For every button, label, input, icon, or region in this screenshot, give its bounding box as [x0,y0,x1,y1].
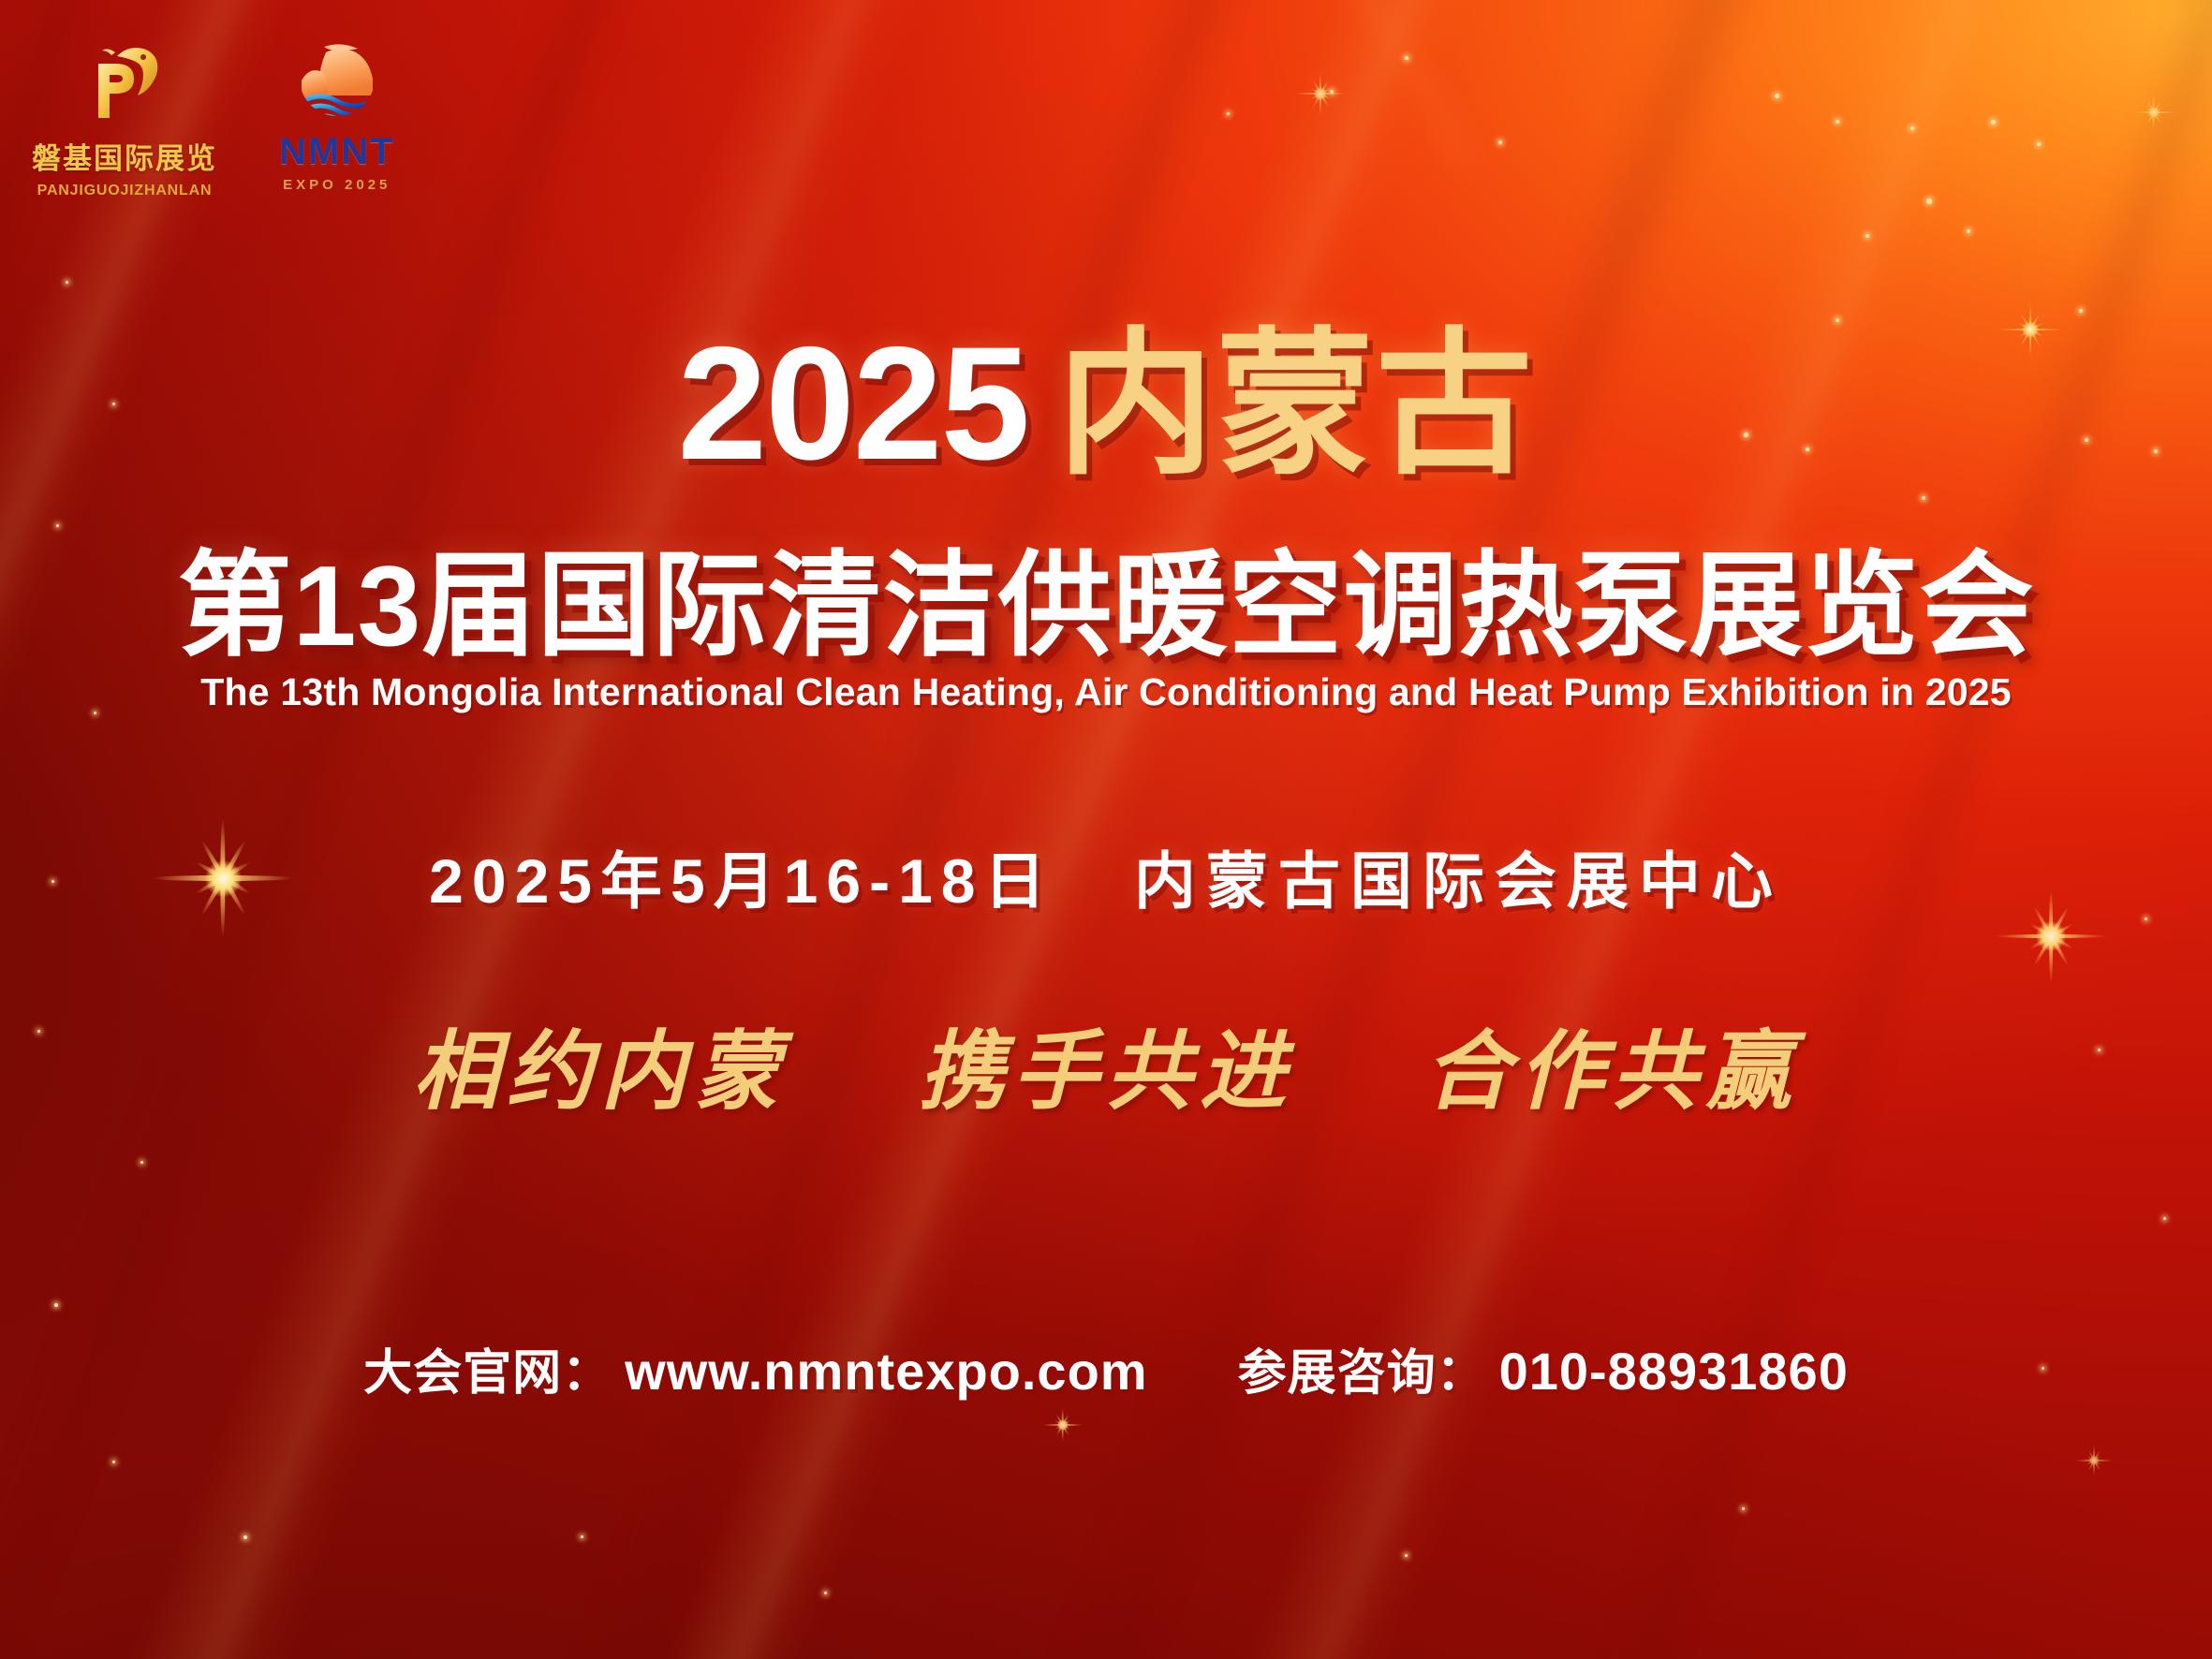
dragon-p-monogram-icon [74,26,175,131]
slogan-row: 相约内蒙 携手共进 合作共赢 [0,1002,2212,1126]
logo-nmnt-subtitle: EXPO 2025 [283,177,391,193]
poster-content: 2025 内蒙古 第13届国际清洁供暖空调热泵展览会 The 13th Mong… [0,0,2212,1659]
logo-panji-name-cn: 磐基国际展览 [32,135,217,177]
headline-region: 内蒙古 [1057,316,1535,492]
slogan-item: 合作共赢 [1424,1002,1799,1126]
headline-year: 2025 [677,314,1028,493]
headline: 2025 内蒙古 [0,277,2212,505]
page-title-en: The 13th Mongolia International Clean He… [0,670,2212,714]
logo-panji: 磐基国际展览 PANJIGUOJIZHANLAN [32,26,217,199]
mountain-water-circle-icon [288,26,386,131]
event-datetime-venue: 2025年5月16-18日 内蒙古国际会展中心 [0,831,2212,921]
event-date: 2025年5月16-18日 [429,846,1054,916]
inquiry-group: 参展咨询： 010-88931860 [1238,1333,1849,1403]
logo-row: 磐基国际展览 PANJIGUOJIZHANLAN [32,26,395,199]
website-value[interactable]: www.nmntexpo.com [625,1341,1147,1402]
slogan-item: 相约内蒙 [413,1002,788,1126]
inquiry-value[interactable]: 010-88931860 [1499,1341,1849,1402]
page-title-cn: 第13届国际清洁供暖空调热泵展览会 [0,513,2212,679]
slogan-item: 携手共进 [919,1002,1293,1126]
event-venue: 内蒙古国际会展中心 [1134,846,1783,916]
logo-nmnt-wordmark: NMNT [279,133,395,170]
website-group: 大会官网： www.nmntexpo.com [363,1333,1147,1403]
website-label: 大会官网： [363,1333,612,1403]
contact-row: 大会官网： www.nmntexpo.com 参展咨询： 010-8893186… [0,1333,2212,1403]
logo-nmnt: NMNT EXPO 2025 [279,26,395,193]
exhibition-poster: 磐基国际展览 PANJIGUOJIZHANLAN [0,0,2212,1659]
logo-panji-pinyin: PANJIGUOJIZHANLAN [37,183,213,199]
inquiry-label: 参展咨询： [1238,1333,1486,1403]
